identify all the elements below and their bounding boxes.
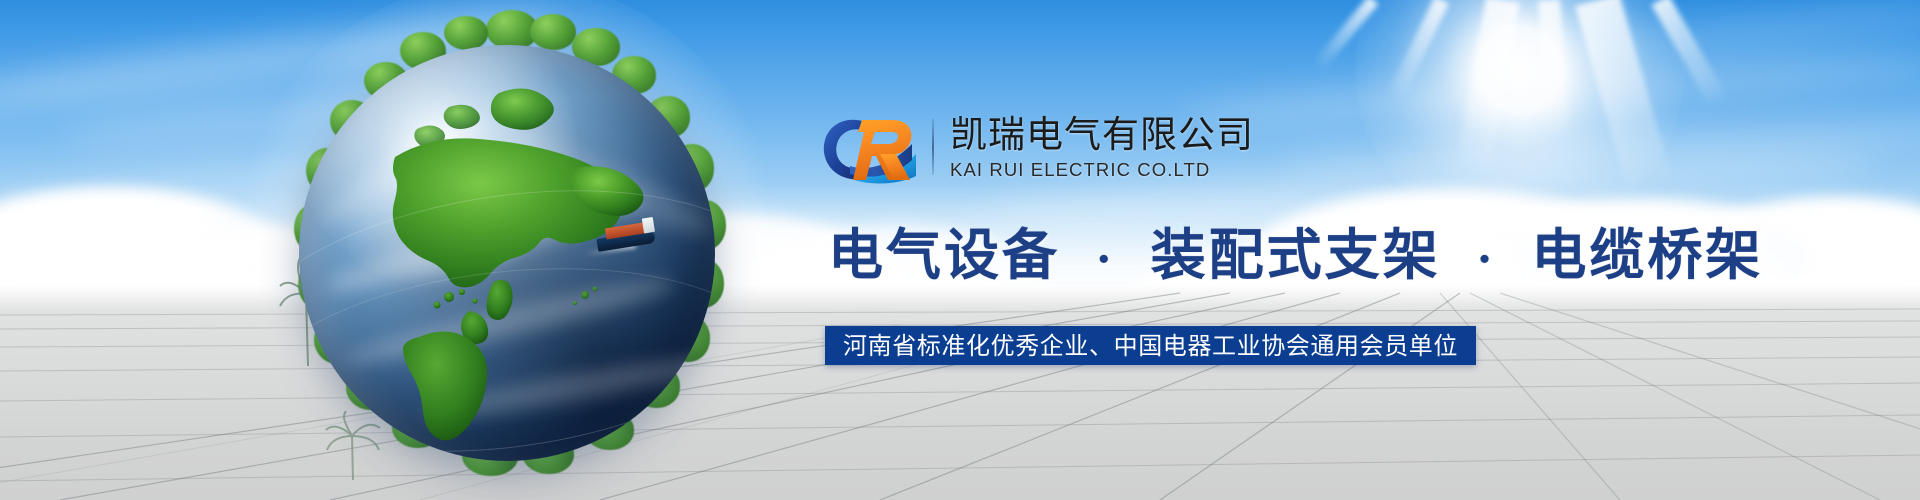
page-title: 电气设备 · 装配式支架 · 电缆桥架 (828, 222, 1763, 293)
brand-names: 凯瑞电气有限公司 KAI RUI ELECTRIC CO.LTD (950, 114, 1254, 181)
headline-part-3: 电缆桥架 (1531, 222, 1763, 287)
cr-monogram-logo (820, 110, 924, 184)
company-name-en: KAI RUI ELECTRIC CO.LTD (950, 159, 1254, 181)
promo-banner: 凯瑞电气有限公司 KAI RUI ELECTRIC CO.LTD 电气设备 · … (0, 0, 1920, 500)
headline-part-1: 电气设备 (828, 222, 1060, 287)
brand-lockup: 凯瑞电气有限公司 KAI RUI ELECTRIC CO.LTD (820, 108, 1254, 186)
headline-separator-1: · (1082, 234, 1128, 285)
brand-divider (932, 119, 934, 175)
banner-content: 凯瑞电气有限公司 KAI RUI ELECTRIC CO.LTD 电气设备 · … (0, 0, 1920, 500)
credentials-text: 河南省标准化优秀企业、中国电器工业协会通用会员单位 (843, 332, 1458, 360)
headline-part-2: 装配式支架 (1151, 222, 1441, 287)
credentials-badge: 河南省标准化优秀企业、中国电器工业协会通用会员单位 (825, 326, 1476, 365)
company-name-cn: 凯瑞电气有限公司 (950, 114, 1254, 156)
headline-separator-2: · (1463, 234, 1509, 285)
